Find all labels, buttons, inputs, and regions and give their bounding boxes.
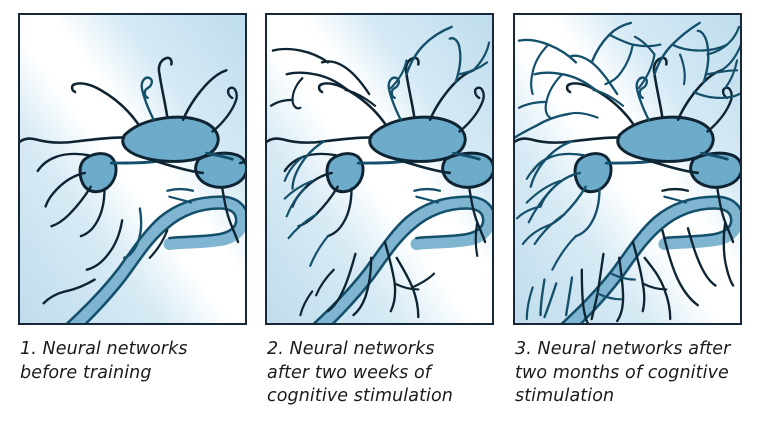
soma-right-2 — [443, 153, 492, 187]
neural-network-growth-figure: 1. Neural networks before training 2. Ne… — [0, 0, 762, 435]
neuron-illustration-2 — [267, 15, 492, 323]
stub-1-c — [240, 162, 245, 163]
panel-two-weeks — [265, 13, 494, 325]
caption-row: 1. Neural networks before training 2. Ne… — [0, 332, 762, 435]
panel-row — [0, 0, 762, 332]
panel-before-training — [18, 13, 247, 325]
caption-panel-1: 1. Neural networks before training — [20, 338, 250, 385]
soma-right-3 — [691, 153, 740, 187]
neuron-illustration-3 — [515, 15, 740, 323]
caption-panel-3: 3. Neural networks after two months of c… — [515, 338, 757, 409]
neuron-illustration-1 — [20, 15, 245, 323]
soma-right-1 — [196, 153, 245, 187]
panel-two-months — [513, 13, 742, 325]
caption-panel-2: 2. Neural networks after two weeks of co… — [267, 338, 502, 409]
